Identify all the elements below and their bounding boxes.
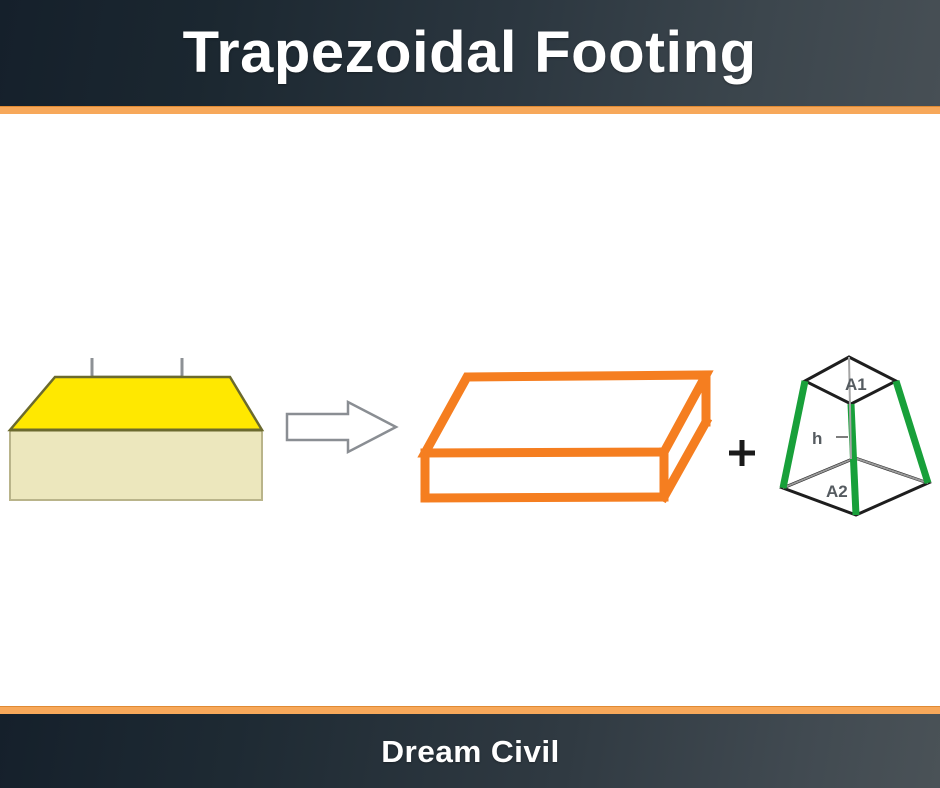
plus-icon	[729, 440, 755, 466]
page-title: Trapezoidal Footing	[183, 24, 757, 82]
header-bar: Trapezoidal Footing	[0, 0, 940, 106]
cuboid-top-face	[425, 375, 706, 453]
frustum-edge-right-green	[896, 381, 928, 483]
footer-bar: Dream Civil	[0, 714, 940, 788]
rectangular-cuboid	[425, 375, 706, 498]
brand-name: Dream Civil	[381, 736, 559, 767]
frustum-edge-front-green	[851, 404, 856, 515]
header-accent-rule	[0, 106, 940, 114]
diagram-area: A1 h A2	[0, 114, 940, 706]
frustum-edge-left-green	[783, 381, 805, 488]
right-arrow-icon	[287, 402, 396, 452]
frustum-label-h: h	[812, 429, 822, 448]
footing-base-slab	[10, 430, 262, 500]
diagram-svg: A1 h A2	[0, 114, 940, 706]
frustum-label-a2: A2	[826, 482, 848, 501]
footing-trapezoid-top	[10, 377, 262, 430]
frustum-label-a1: A1	[845, 375, 867, 394]
truncated-pyramid: A1 h A2	[783, 357, 928, 515]
trapezoidal-footing-section	[10, 358, 262, 500]
arrow-shape	[287, 402, 396, 452]
cuboid-edge-front-bottom	[425, 497, 664, 498]
footer-accent-rule	[0, 706, 940, 714]
slide-canvas: Trapezoidal Footing	[0, 0, 940, 788]
